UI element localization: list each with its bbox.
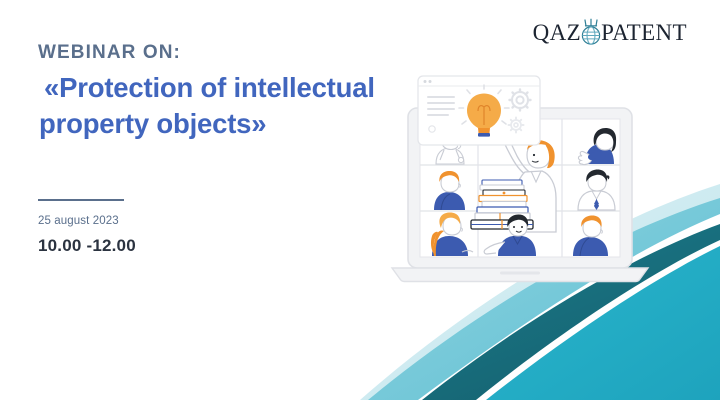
qazpatent-logo: QAZ PATENT: [533, 17, 687, 47]
laptop-trackpad-notch: [500, 272, 540, 275]
logo-text-patent: PATENT: [601, 21, 687, 44]
video-conference-illustration: [370, 72, 670, 287]
window-dot-1: [424, 80, 427, 83]
title-divider: [38, 199, 124, 201]
window-dot-2: [429, 80, 432, 83]
webinar-announcement-slide: QAZ PATENT WEBINAR ON: «Protection of in…: [0, 0, 720, 400]
event-time: 10.00 -12.00: [38, 236, 136, 256]
event-date: 25 august 2023: [38, 215, 119, 227]
idea-popup-window: [418, 76, 540, 145]
laptop-base: [392, 268, 648, 282]
page-kicker: WEBINAR ON:: [38, 42, 181, 64]
logo-text-qaz: QAZ: [533, 21, 581, 44]
